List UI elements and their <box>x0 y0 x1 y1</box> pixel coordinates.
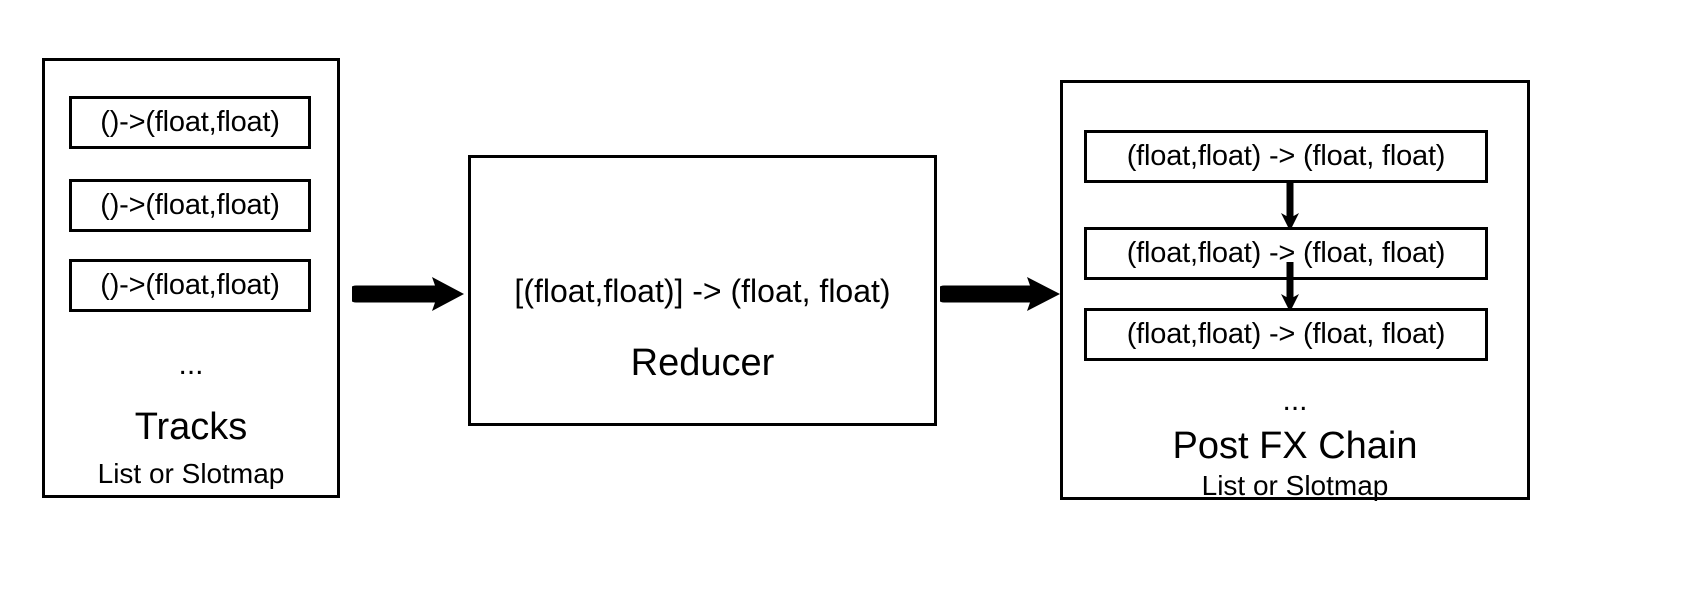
postfx-item-3-label: (float,float) -> (float, float) <box>1127 320 1446 349</box>
postfx-item-1-label: (float,float) -> (float, float) <box>1127 142 1446 171</box>
postfx-panel-title: Post FX Chain <box>1060 427 1530 465</box>
track-item-1-label: ()->(float,float) <box>100 108 280 137</box>
postfx-item-1[interactable]: (float,float) -> (float, float) <box>1084 130 1488 183</box>
arrow-fx1-to-fx2 <box>1276 181 1304 231</box>
reducer-panel-title: Reducer <box>468 344 937 382</box>
track-item-1[interactable]: ()->(float,float) <box>69 96 311 149</box>
postfx-item-3[interactable]: (float,float) -> (float, float) <box>1084 308 1488 361</box>
track-item-3[interactable]: ()->(float,float) <box>69 259 311 312</box>
track-item-2-label: ()->(float,float) <box>100 191 280 220</box>
track-item-3-label: ()->(float,float) <box>100 271 280 300</box>
postfx-panel-subtitle: List or Slotmap <box>1060 472 1530 500</box>
diagram-canvas: ()->(float,float) ()->(float,float) ()->… <box>0 0 1694 600</box>
track-item-2[interactable]: ()->(float,float) <box>69 179 311 232</box>
tracks-panel-title: Tracks <box>42 408 340 446</box>
reducer-signature: [(float,float)] -> (float, float) <box>468 275 937 307</box>
arrow-reducer-to-postfx <box>940 268 1064 320</box>
tracks-panel-subtitle: List or Slotmap <box>42 460 340 488</box>
arrow-tracks-to-reducer <box>352 268 468 320</box>
arrow-fx2-to-fx3 <box>1276 262 1304 312</box>
tracks-ellipsis: ... <box>42 350 340 380</box>
postfx-ellipsis: ... <box>1060 386 1530 416</box>
